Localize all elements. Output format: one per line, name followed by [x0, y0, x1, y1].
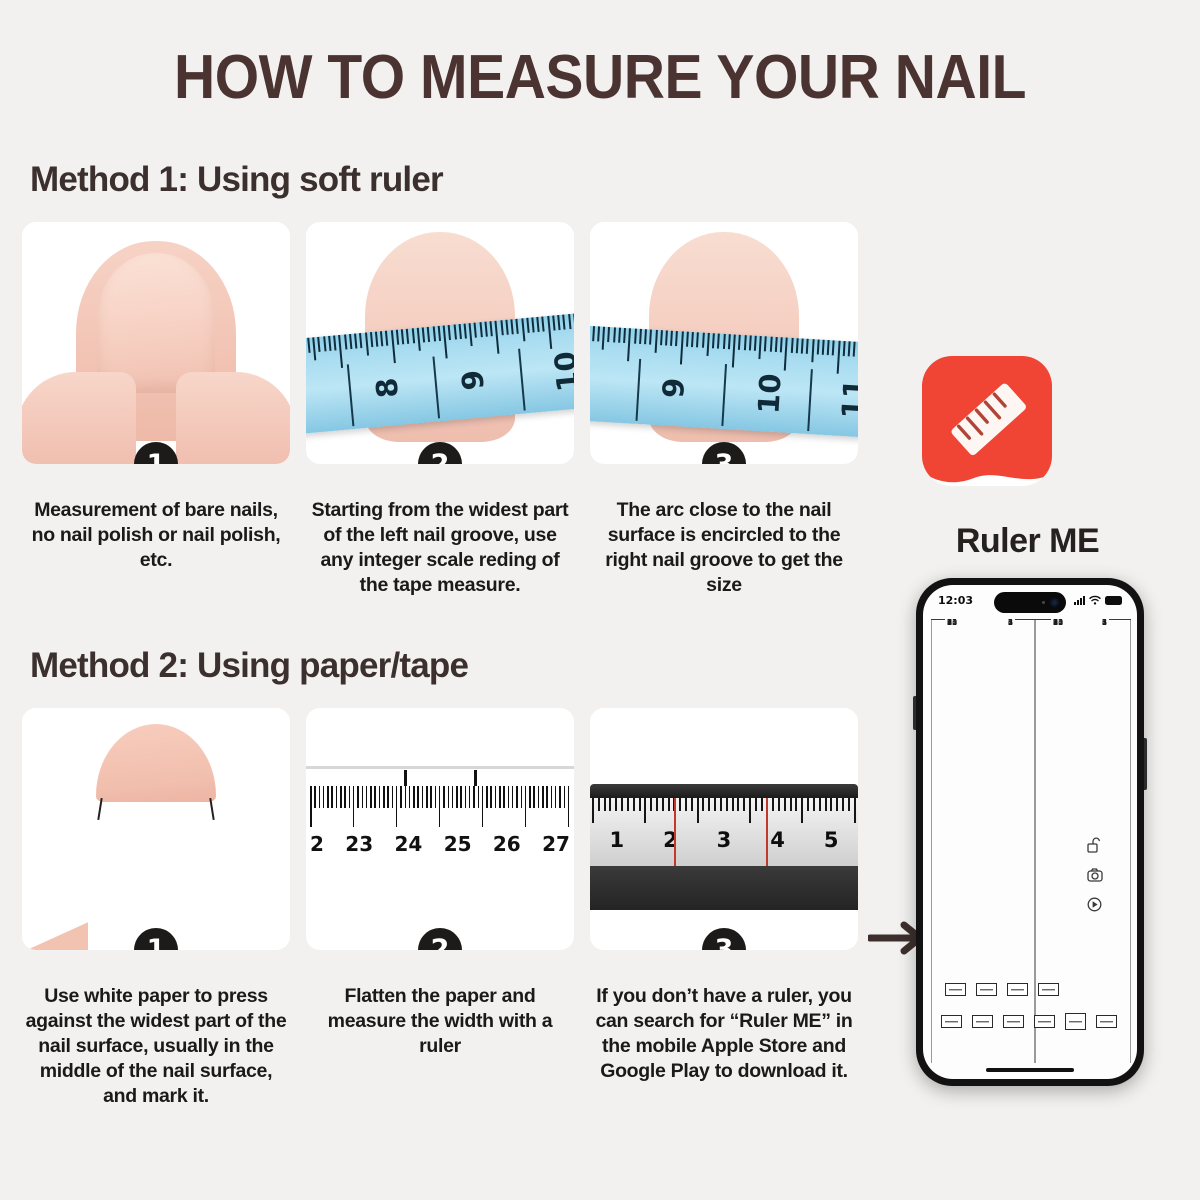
step-caption: If you don’t have a ruler, you can searc…: [593, 984, 855, 1084]
ruler-me-app-icon[interactable]: [922, 356, 1052, 486]
app-name-label: Ruler ME: [900, 522, 1155, 561]
photo-bare-nail: 1: [22, 222, 290, 464]
cellular-signal-icon: [1074, 596, 1085, 605]
ruler-number: 3: [717, 828, 732, 852]
metal-ruler-body: 1 2 3 4 5: [590, 798, 858, 866]
ruler-number: 4: [770, 828, 785, 852]
step-caption: Use white paper to press against the wid…: [25, 984, 287, 1109]
paper-ruler: 2 23 24 25 26 27: [306, 786, 574, 860]
nail-chip: [941, 1015, 962, 1028]
step-caption: Measurement of bare nails, no nail polis…: [25, 498, 287, 573]
ruler-ticks: [310, 786, 570, 828]
tape-measure: 9 10 11: [590, 325, 858, 438]
tape-number: 11: [835, 378, 858, 420]
app-promo-panel: Ruler ME 12:03: [900, 0, 1200, 1200]
nail-chip: [1038, 983, 1059, 996]
step-card: 8 9 10 2 Starting from the widest part o…: [306, 222, 574, 598]
pencil-mark-right: [474, 770, 477, 786]
step-caption: The arc close to the nail surface is enc…: [593, 498, 855, 598]
ruler-top-edge: [590, 784, 858, 798]
camera-icon[interactable]: [1087, 868, 1103, 882]
photo-nail-on-paper: 1: [22, 708, 290, 950]
home-indicator: [986, 1068, 1074, 1072]
ruler-number: 1: [609, 828, 624, 852]
photo-tape-on-finger: 8 9 10 2: [306, 222, 574, 464]
ruler-number: 25: [444, 832, 472, 856]
record-icon[interactable]: [1087, 897, 1102, 912]
nail-chip: [1007, 983, 1028, 996]
nail-chip: [1096, 1015, 1117, 1028]
ruler-base: [590, 866, 858, 910]
method-1-heading: Method 1: Using soft ruler: [30, 160, 900, 200]
status-bar: 12:03: [923, 585, 1137, 615]
photo-paper-ruler: 2 23 24 25 26 27 2: [306, 708, 574, 950]
step-card: 1 Use white paper to press against the w…: [22, 708, 290, 1109]
ruler-numbers: 2 23 24 25 26 27: [306, 832, 574, 856]
method-2-steps: 1 Use white paper to press against the w…: [0, 708, 900, 1109]
instructions-column: Method 1: Using soft ruler 1 Measurement…: [0, 160, 900, 1109]
ruler-scale-left: 1234567891011121314: [931, 619, 983, 1063]
ruler-number: 26: [493, 832, 521, 856]
step-badge: 2: [418, 442, 462, 464]
ruler-ticks: [592, 798, 856, 824]
tape-number: 9: [455, 369, 491, 392]
tape-number: 8: [369, 376, 405, 399]
tape-number: 10: [751, 373, 787, 415]
status-icons: [1074, 595, 1122, 605]
ruler-tick-label: 6: [1008, 619, 1013, 627]
ruler-tick-label: 14: [947, 619, 957, 627]
method-1-steps: 1 Measurement of bare nails, no nail pol…: [0, 222, 900, 598]
nail-size-chips-row: [945, 983, 1059, 996]
tape-measure: 8 9 10: [306, 312, 574, 434]
lock-open-icon[interactable]: [1087, 837, 1101, 853]
nail-size-chips-row: [941, 1013, 1117, 1030]
status-time: 12:03: [938, 594, 973, 607]
step-card: 2 23 24 25 26 27 2 Flatten the paper and…: [306, 708, 574, 1109]
ruler-number: 27: [542, 832, 570, 856]
paper-edge: [306, 766, 574, 769]
ruler-tick-label: 14: [1053, 619, 1063, 627]
ruler-tick-label: 6: [1102, 619, 1107, 627]
step-card: 1 2 3 4 5 3 If you don’t have a ruler, y…: [590, 708, 858, 1109]
wifi-icon: [1089, 595, 1101, 605]
ruler-scale-center-inch: 123456: [995, 619, 1035, 1063]
nail-chip: [976, 983, 997, 996]
battery-icon: [1105, 596, 1122, 605]
step-badge: 3: [702, 442, 746, 464]
tape-number: 10: [548, 350, 574, 393]
step-card: 9 10 11 3 The arc close to the nail surf…: [590, 222, 858, 598]
nail-chip: [1065, 1013, 1086, 1030]
knuckle-left: [22, 372, 136, 464]
tape-number: 9: [656, 377, 691, 399]
nail-chip: [972, 1015, 993, 1028]
pencil-mark-left: [404, 770, 407, 786]
step-caption: Flatten the paper and measure the width …: [309, 984, 571, 1059]
photo-metal-ruler: 1 2 3 4 5 3: [590, 708, 858, 950]
ruler-number: 2: [310, 832, 324, 856]
nail-chip: [1003, 1015, 1024, 1028]
knuckle-right: [176, 372, 290, 464]
step-badge: 1: [134, 442, 178, 464]
phone-screen[interactable]: 12:03 123456789101112: [923, 585, 1137, 1079]
ruler-number: 23: [345, 832, 373, 856]
ruler-number: 24: [394, 832, 422, 856]
photo-tape-wrapped: 9 10 11 3: [590, 222, 858, 464]
tool-icon-group[interactable]: [1087, 837, 1103, 912]
nail-chip: [1034, 1015, 1055, 1028]
nail-chip: [945, 983, 966, 996]
ruler-number: 5: [824, 828, 839, 852]
ruler-numbers: 1 2 3 4 5: [590, 828, 858, 852]
phone-mockup: 12:03 123456789101112: [916, 578, 1144, 1086]
method-2-heading: Method 2: Using paper/tape: [30, 646, 900, 686]
step-caption: Starting from the widest part of the lef…: [309, 498, 571, 598]
step-card: 1 Measurement of bare nails, no nail pol…: [22, 222, 290, 598]
